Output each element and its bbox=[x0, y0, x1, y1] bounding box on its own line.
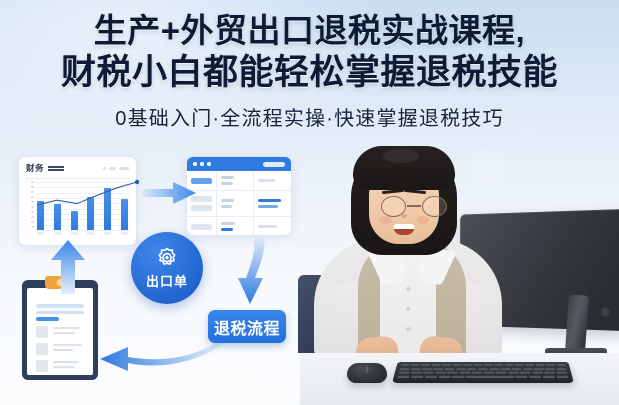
keyboard-key bbox=[438, 376, 450, 379]
keyboard-key bbox=[397, 376, 410, 379]
chart-x-tick bbox=[121, 232, 128, 235]
keyboard-key bbox=[489, 368, 499, 371]
keyboard-key bbox=[452, 364, 461, 367]
table-cell bbox=[217, 171, 254, 191]
keyboard-key bbox=[421, 364, 430, 367]
chart-x-tick bbox=[54, 232, 61, 235]
keyboard-key bbox=[556, 376, 569, 379]
keyboard-keys bbox=[397, 364, 569, 379]
chart-card-header: 财务 bbox=[19, 157, 136, 177]
chart-x-tick bbox=[104, 232, 111, 235]
keyboard-key bbox=[442, 364, 451, 367]
clipboard-paper bbox=[27, 288, 93, 375]
arrow-process-to-clipboard-icon bbox=[96, 330, 226, 376]
keyboard-key bbox=[542, 376, 555, 379]
clipboard-content bbox=[36, 304, 84, 372]
keyboard-key bbox=[398, 372, 409, 375]
arrow-clipboard-to-chart-icon bbox=[44, 238, 92, 296]
chart-y-tick: 30 bbox=[25, 212, 34, 215]
header-rule-icon bbox=[48, 166, 64, 171]
tax-refund-process-button[interactable]: 退税流程 bbox=[208, 310, 286, 343]
keyboard-key bbox=[411, 376, 424, 379]
keyboard-key bbox=[399, 368, 409, 371]
chart-x-tick bbox=[37, 232, 44, 235]
keyboard-key bbox=[467, 368, 477, 371]
tax-table-card bbox=[186, 156, 292, 236]
headline-block: 生产+外贸出口退税实战课程, 财税小白都能轻松掌握退税技能 0基础入门·全流程实… bbox=[0, 12, 619, 131]
chart-y-tick: 0 bbox=[25, 227, 34, 230]
person-cheek-right bbox=[416, 216, 429, 224]
table-cell bbox=[254, 191, 291, 217]
poster-root: 生产+外贸出口退税实战课程, 财税小白都能轻松掌握退税技能 0基础入门·全流程实… bbox=[0, 0, 619, 405]
chart-y-tick: 50 bbox=[25, 202, 34, 205]
keyboard-key bbox=[422, 368, 432, 371]
person-illustration bbox=[308, 133, 508, 361]
keyboard-key bbox=[556, 368, 566, 371]
window-dot-icon bbox=[200, 162, 204, 166]
keyboard-key bbox=[535, 364, 544, 367]
person-smiling-mouth bbox=[394, 224, 415, 235]
keyboard-key bbox=[532, 372, 543, 375]
arrow-chart-to-table-icon bbox=[140, 178, 198, 208]
keyboard-key bbox=[512, 368, 522, 371]
person-cheek-left bbox=[379, 216, 392, 224]
table-card-titlebar bbox=[187, 157, 291, 171]
header-dots-icon bbox=[103, 167, 129, 170]
keyboard-key bbox=[424, 376, 437, 379]
keyboard-key bbox=[400, 364, 410, 367]
keyboard-key bbox=[484, 372, 495, 375]
keyboard-key bbox=[494, 364, 503, 367]
keyboard-key bbox=[544, 372, 555, 375]
keyboard-key bbox=[496, 372, 507, 375]
keyboard-key bbox=[556, 372, 567, 375]
person-glasses-icon bbox=[380, 196, 448, 217]
keyboard-key bbox=[435, 372, 446, 375]
process-diagram: 财务 9080706050403020100 bbox=[0, 140, 320, 405]
export-form-badge[interactable]: 出口单 bbox=[131, 232, 203, 304]
headline-line-2: 财税小白都能轻松掌握退税技能 bbox=[0, 52, 619, 93]
headline-line-1: 生产+外贸出口退税实战课程, bbox=[0, 12, 619, 51]
chart-x-axis bbox=[37, 232, 128, 235]
keyboard-key bbox=[471, 372, 482, 375]
table-cell bbox=[187, 217, 217, 236]
table-cell bbox=[254, 171, 291, 191]
chart-y-tick: 60 bbox=[25, 197, 34, 200]
finance-chart-card: 财务 9080706050403020100 bbox=[18, 156, 137, 246]
monitor-stand-neck bbox=[565, 294, 589, 351]
keyboard-key bbox=[504, 364, 513, 367]
chart-y-tick: 70 bbox=[25, 192, 34, 195]
subheadline: 0基础入门·全流程实操·快速掌握退税技巧 bbox=[0, 102, 619, 131]
person-shirt bbox=[314, 239, 502, 361]
keyboard-key bbox=[520, 372, 531, 375]
chart-y-axis: 9080706050403020100 bbox=[25, 182, 34, 230]
keyboard bbox=[392, 362, 574, 383]
chart-x-tick bbox=[87, 232, 94, 235]
keyboard-key bbox=[515, 364, 524, 367]
keyboard-key bbox=[463, 364, 472, 367]
export-form-label: 出口单 bbox=[146, 271, 188, 290]
gear-target-icon bbox=[156, 247, 178, 269]
chart-gridline bbox=[35, 230, 130, 231]
window-dot-icon bbox=[207, 162, 211, 166]
keyboard-key bbox=[411, 364, 421, 367]
keyboard-key bbox=[432, 364, 441, 367]
keyboard-key bbox=[556, 364, 566, 367]
keyboard-key bbox=[529, 376, 542, 379]
person-hair-front bbox=[353, 146, 455, 190]
keyboard-key bbox=[473, 364, 482, 367]
keyboard-key bbox=[410, 368, 420, 371]
keyboard-key bbox=[508, 372, 519, 375]
keyboard-key bbox=[515, 376, 527, 379]
titlebar-pill-icon bbox=[263, 162, 285, 167]
keyboard-key bbox=[523, 368, 533, 371]
keyboard-key bbox=[452, 376, 464, 379]
table-cell bbox=[217, 191, 254, 217]
chart-card-title: 财务 bbox=[26, 162, 44, 174]
person-head bbox=[360, 151, 448, 251]
keyboard-key bbox=[478, 368, 488, 371]
keyboard-key bbox=[525, 364, 534, 367]
computer-mouse bbox=[347, 363, 387, 383]
keyboard-key bbox=[433, 368, 443, 371]
chart-y-tick: 20 bbox=[25, 217, 34, 220]
keyboard-key bbox=[444, 368, 454, 371]
chart-y-tick: 90 bbox=[25, 182, 34, 185]
tax-refund-process-label: 退税流程 bbox=[214, 315, 280, 339]
window-dot-icon bbox=[193, 162, 197, 166]
chart-plot-area: 9080706050403020100 bbox=[25, 182, 130, 240]
chart-x-tick bbox=[71, 232, 78, 235]
keyboard-key bbox=[465, 376, 514, 379]
keyboard-key bbox=[546, 364, 556, 367]
table-card-body bbox=[187, 171, 291, 236]
keyboard-key bbox=[423, 372, 434, 375]
chart-trend-endpoint bbox=[37, 182, 137, 230]
keyboard-key bbox=[534, 368, 544, 371]
chart-y-tick: 40 bbox=[25, 207, 34, 210]
chart-y-tick: 10 bbox=[25, 222, 34, 225]
illustration-scene bbox=[300, 120, 619, 405]
keyboard-key bbox=[484, 364, 493, 367]
keyboard-key bbox=[459, 372, 470, 375]
header-separator bbox=[25, 178, 130, 179]
keyboard-key bbox=[456, 368, 466, 371]
keyboard-key bbox=[500, 368, 510, 371]
keyboard-key bbox=[545, 368, 555, 371]
chart-y-tick: 80 bbox=[25, 187, 34, 190]
keyboard-key bbox=[447, 372, 458, 375]
arrow-table-to-process-icon bbox=[226, 234, 284, 308]
keyboard-key bbox=[410, 372, 421, 375]
